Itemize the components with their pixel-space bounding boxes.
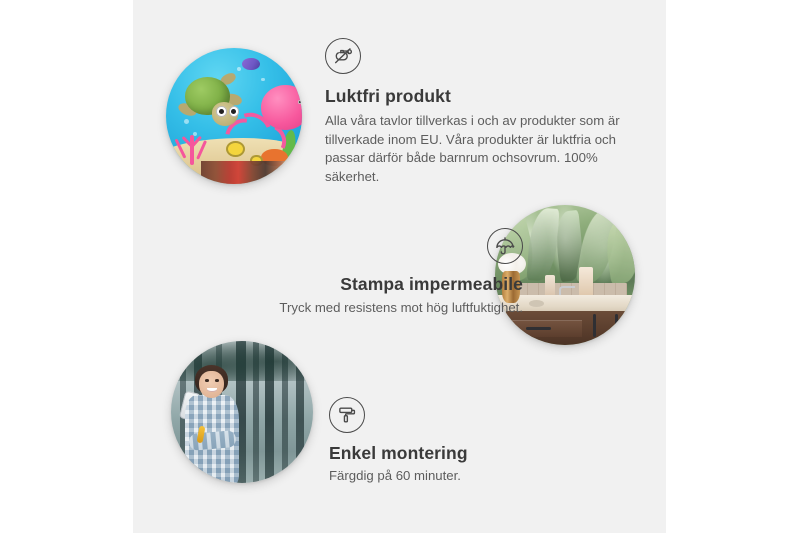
- feature-title: Luktfri produkt: [325, 86, 625, 107]
- feature-title: Stampa impermeabile: [193, 274, 523, 295]
- umbrella-icon: [193, 228, 523, 264]
- feature-body: Tryck med resistens mot hög luftfuktighe…: [193, 299, 523, 318]
- cabinet-handle: [593, 314, 596, 336]
- installer-artwork: [171, 341, 313, 483]
- screenshot-root: Luktfri produkt Alla våra tavlor tillver…: [0, 0, 800, 533]
- purple-fish: [242, 58, 260, 70]
- seabed-detail-strip: [201, 161, 302, 184]
- person-eye: [215, 379, 219, 382]
- no-odour-perfume-icon: [325, 38, 625, 74]
- aquarium-artwork: [166, 48, 302, 184]
- drawer-handle: [526, 327, 551, 330]
- feature-easy-mounting: Enkel montering Färgdig på 60 minuter.: [329, 397, 619, 486]
- person-eye: [205, 379, 209, 382]
- feature-body: Alla våra tavlor tillverkas i och av pro…: [325, 112, 625, 187]
- forest-canopy: [171, 341, 313, 381]
- turtle-eye: [229, 106, 239, 116]
- feature-odourless: Luktfri produkt Alla våra tavlor tillver…: [325, 38, 625, 187]
- octopus-head: [261, 85, 302, 130]
- photo-installer: [171, 341, 313, 483]
- paint-roller-icon: [329, 397, 619, 433]
- coral: [174, 124, 212, 165]
- feature-title: Enkel montering: [329, 443, 619, 464]
- cabinet-handle: [615, 314, 618, 336]
- octopus-eye: [298, 100, 302, 104]
- photo-aquarium: [166, 48, 302, 184]
- bubble-icon: [237, 67, 241, 71]
- turtle-eye: [216, 106, 226, 116]
- feature-waterproof: Stampa impermeabile Tryck med resistens …: [193, 228, 523, 318]
- product-feature-panel: Luktfri produkt Alla våra tavlor tillver…: [133, 0, 666, 533]
- person-face: [199, 371, 223, 398]
- feature-body: Färgdig på 60 minuter.: [329, 467, 619, 486]
- bubble-icon: [261, 78, 264, 81]
